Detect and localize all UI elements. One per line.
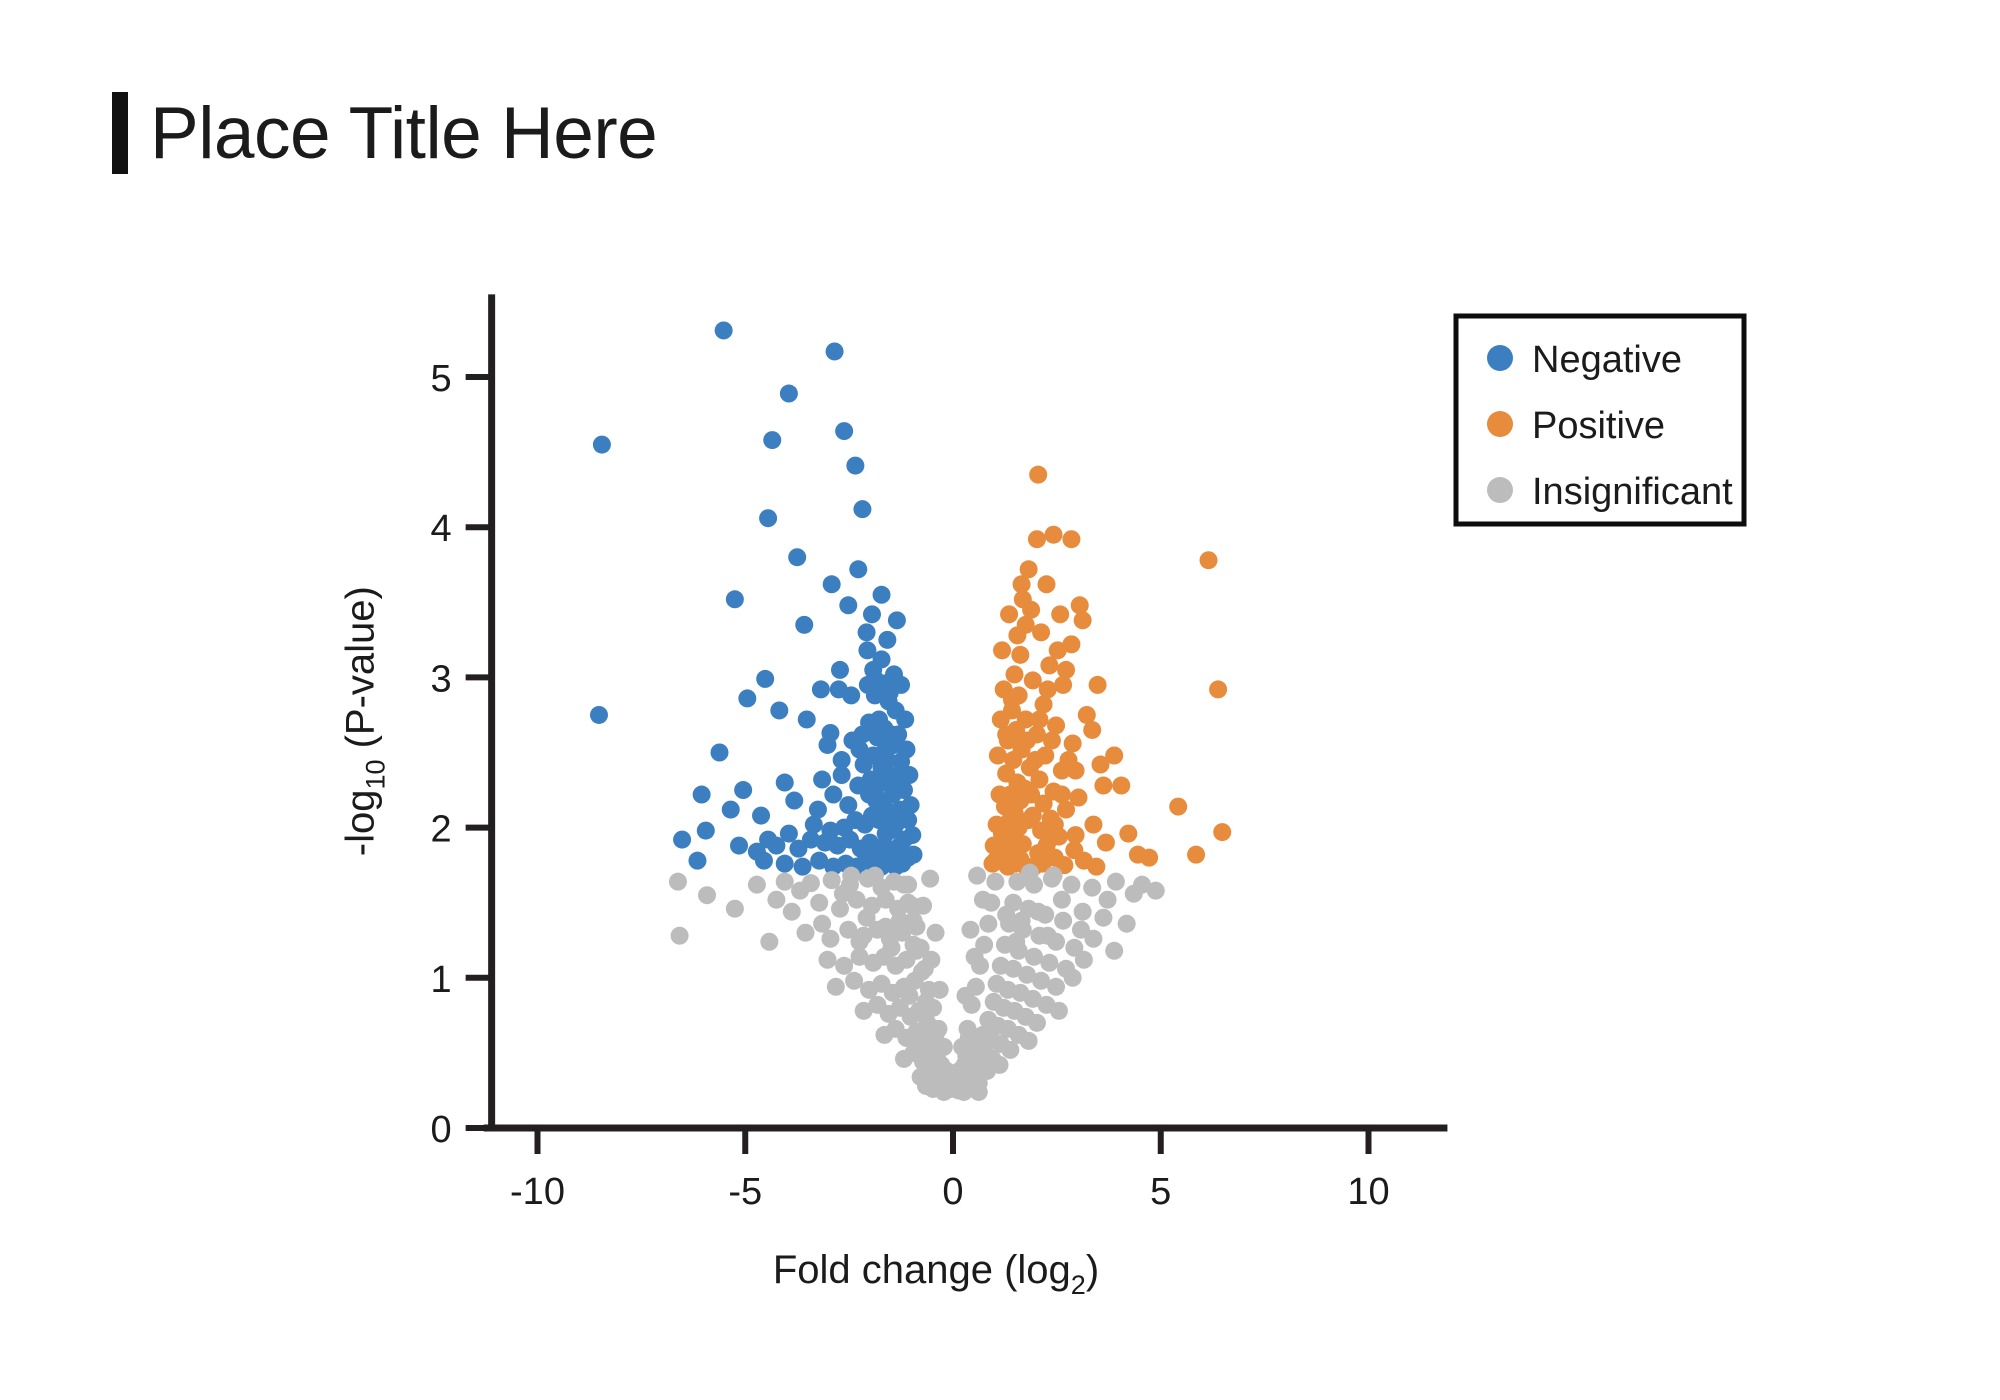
- data-point: [813, 915, 831, 933]
- chart-legend[interactable]: NegativePositiveInsignificant: [1456, 316, 1744, 524]
- data-point: [1119, 825, 1137, 843]
- data-point: [776, 855, 794, 873]
- data-point: [1067, 826, 1085, 844]
- data-point: [851, 933, 869, 951]
- data-point: [1097, 834, 1115, 852]
- series-negative: [590, 321, 923, 875]
- data-point: [974, 891, 992, 909]
- data-point: [1053, 891, 1071, 909]
- data-point: [991, 786, 1009, 804]
- data-point: [1040, 831, 1058, 849]
- data-point: [893, 766, 911, 784]
- data-point: [1047, 978, 1065, 996]
- data-point: [1213, 823, 1231, 841]
- data-point: [1064, 734, 1082, 752]
- y-tick-label: 0: [430, 1109, 451, 1151]
- data-point: [780, 385, 798, 403]
- data-point: [819, 736, 837, 754]
- data-point: [669, 873, 687, 891]
- data-point: [1029, 903, 1047, 921]
- data-point: [730, 837, 748, 855]
- data-point: [989, 747, 1007, 765]
- x-tick-label: 0: [942, 1171, 963, 1213]
- data-point: [1020, 1032, 1038, 1050]
- data-point: [1043, 731, 1061, 749]
- data-point: [842, 867, 860, 885]
- data-point: [748, 876, 766, 894]
- data-point: [1065, 939, 1083, 957]
- data-points-layer: [590, 321, 1231, 1101]
- data-point: [1074, 611, 1092, 629]
- data-point: [755, 852, 773, 870]
- data-point: [914, 897, 932, 915]
- data-point: [866, 867, 884, 885]
- data-point: [1003, 691, 1021, 709]
- data-point: [957, 1047, 975, 1065]
- data-point: [1209, 680, 1227, 698]
- data-point: [1008, 626, 1026, 644]
- data-point: [673, 831, 691, 849]
- data-point: [996, 834, 1014, 852]
- y-tick-label: 1: [430, 959, 451, 1001]
- data-point: [1094, 777, 1112, 795]
- data-point: [988, 816, 1006, 834]
- data-point: [693, 786, 711, 804]
- data-point: [734, 781, 752, 799]
- data-point: [853, 725, 871, 743]
- data-point: [1140, 849, 1158, 867]
- data-point: [1089, 676, 1107, 694]
- data-point: [759, 509, 777, 527]
- legend-swatch-icon: [1487, 345, 1513, 371]
- data-point: [839, 596, 857, 614]
- data-point: [1020, 811, 1038, 829]
- data-point: [946, 1077, 964, 1095]
- data-point: [776, 873, 794, 891]
- data-point: [858, 909, 876, 927]
- data-point: [1037, 575, 1055, 593]
- y-axis-title: -log10 (P-value): [339, 586, 391, 856]
- series-positive: [983, 466, 1231, 876]
- data-point: [1099, 891, 1117, 909]
- data-point: [776, 774, 794, 792]
- data-point: [931, 981, 949, 999]
- data-point: [917, 1077, 935, 1095]
- data-point: [831, 900, 849, 918]
- data-point: [698, 886, 716, 904]
- data-point: [845, 972, 863, 990]
- data-point: [902, 796, 920, 814]
- data-point: [1147, 882, 1165, 900]
- data-point: [1062, 876, 1080, 894]
- data-point: [1003, 801, 1021, 819]
- data-point: [877, 918, 895, 936]
- data-point: [871, 792, 889, 810]
- data-point: [1072, 921, 1090, 939]
- data-point: [1045, 526, 1063, 544]
- x-tick-label: -10: [510, 1171, 565, 1213]
- data-point: [812, 680, 830, 698]
- data-point: [763, 431, 781, 449]
- data-point: [883, 939, 901, 957]
- x-tick-label: 10: [1347, 1171, 1389, 1213]
- data-point: [1087, 858, 1105, 876]
- data-point: [846, 457, 864, 475]
- data-point: [956, 987, 974, 1005]
- series-insignificant: [669, 864, 1165, 1101]
- data-point: [899, 876, 917, 894]
- data-point: [853, 500, 871, 518]
- x-tick-label: -5: [728, 1171, 762, 1213]
- data-point: [1011, 646, 1029, 664]
- data-point: [593, 436, 611, 454]
- data-point: [970, 1083, 988, 1101]
- data-point: [922, 951, 940, 969]
- data-point: [842, 686, 860, 704]
- data-point: [1032, 623, 1050, 641]
- data-point: [1045, 867, 1063, 885]
- data-point: [966, 948, 984, 966]
- data-point: [1029, 466, 1047, 484]
- data-point: [823, 575, 841, 593]
- legend-swatch-icon: [1487, 411, 1513, 437]
- data-point: [1000, 605, 1018, 623]
- data-point: [819, 951, 837, 969]
- data-point: [888, 611, 906, 629]
- data-point: [805, 816, 823, 834]
- data-point: [722, 801, 740, 819]
- data-point: [1022, 601, 1040, 619]
- data-point: [1051, 605, 1069, 623]
- data-point: [1169, 798, 1187, 816]
- data-point: [979, 915, 997, 933]
- data-point: [986, 873, 1004, 891]
- data-point: [1025, 948, 1043, 966]
- data-point: [824, 786, 842, 804]
- legend-swatch-icon: [1487, 477, 1513, 503]
- y-tick-label: 2: [430, 809, 451, 851]
- data-point: [927, 924, 945, 942]
- data-point: [1049, 641, 1067, 659]
- data-point: [927, 1026, 945, 1044]
- y-tick-label: 5: [430, 358, 451, 400]
- data-point: [1013, 575, 1031, 593]
- data-point: [1200, 551, 1218, 569]
- data-point: [770, 701, 788, 719]
- data-point: [760, 933, 778, 951]
- data-point: [715, 321, 733, 339]
- data-point: [688, 852, 706, 870]
- data-point: [785, 792, 803, 810]
- data-point: [924, 999, 942, 1017]
- data-point: [1022, 786, 1040, 804]
- data-point: [1057, 960, 1075, 978]
- data-point: [1050, 1002, 1068, 1020]
- data-point: [1062, 530, 1080, 548]
- legend-label: Negative: [1532, 339, 1682, 381]
- data-point: [788, 548, 806, 566]
- data-point: [1026, 751, 1044, 769]
- data-point: [767, 837, 785, 855]
- data-point: [1118, 915, 1136, 933]
- data-point: [991, 1056, 1009, 1074]
- data-point: [907, 918, 925, 936]
- x-tick-label: 5: [1150, 1171, 1171, 1213]
- data-point: [873, 586, 891, 604]
- data-point: [896, 710, 914, 728]
- data-point: [858, 623, 876, 641]
- data-point: [849, 560, 867, 578]
- data-point: [960, 1029, 978, 1047]
- data-point: [671, 927, 689, 945]
- data-point: [798, 710, 816, 728]
- data-point: [1107, 873, 1125, 891]
- data-point: [1112, 777, 1130, 795]
- data-point: [1039, 927, 1057, 945]
- data-point: [1007, 933, 1025, 951]
- data-point: [1028, 530, 1046, 548]
- data-point: [867, 671, 885, 689]
- data-point: [968, 867, 986, 885]
- legend-label: Insignificant: [1532, 471, 1733, 513]
- data-point: [1039, 680, 1057, 698]
- data-point: [590, 706, 608, 724]
- data-point: [851, 741, 869, 759]
- data-point: [697, 822, 715, 840]
- data-point: [834, 885, 852, 903]
- data-point: [810, 894, 828, 912]
- data-point: [1008, 731, 1026, 749]
- data-point: [738, 689, 756, 707]
- data-point: [794, 858, 812, 876]
- data-point: [791, 882, 809, 900]
- svg-text:-log10 (P-value): -log10 (P-value): [339, 586, 391, 856]
- data-point: [797, 924, 815, 942]
- data-point: [833, 751, 851, 769]
- data-point: [1054, 912, 1072, 930]
- data-point: [1125, 885, 1143, 903]
- data-point: [1028, 1014, 1046, 1032]
- y-tick-label: 3: [430, 658, 451, 700]
- data-point: [783, 903, 801, 921]
- data-point: [726, 590, 744, 608]
- y-tick-label: 4: [430, 508, 451, 550]
- data-point: [1057, 661, 1075, 679]
- data-point: [710, 744, 728, 762]
- data-point: [1040, 954, 1058, 972]
- data-point: [997, 906, 1015, 924]
- data-point: [1054, 676, 1072, 694]
- volcano-plot-chart: -10-50510012345Fold change (log2)-log10 …: [0, 0, 2000, 1400]
- data-point: [810, 852, 828, 870]
- data-point: [1187, 846, 1205, 864]
- data-point: [909, 1035, 927, 1053]
- data-point: [891, 837, 909, 855]
- data-point: [1105, 747, 1123, 765]
- data-point: [900, 987, 918, 1005]
- data-point: [835, 957, 853, 975]
- data-point: [1013, 912, 1031, 930]
- plot-svg: -10-50510012345Fold change (log2)-log10 …: [0, 0, 2000, 1400]
- data-point: [835, 422, 853, 440]
- data-point: [1021, 864, 1039, 882]
- data-point: [863, 605, 881, 623]
- data-point: [961, 921, 979, 939]
- data-point: [827, 978, 845, 996]
- data-point: [831, 661, 849, 679]
- data-point: [1024, 671, 1042, 689]
- data-point: [1074, 903, 1092, 921]
- data-point: [756, 670, 774, 688]
- data-point: [878, 631, 896, 649]
- data-point: [726, 900, 744, 918]
- x-axis-title: Fold change (log2): [773, 1248, 1099, 1300]
- data-point: [993, 641, 1011, 659]
- data-point: [983, 855, 1001, 873]
- data-point: [1053, 786, 1071, 804]
- data-point: [1071, 596, 1089, 614]
- data-point: [826, 342, 844, 360]
- data-point: [1067, 762, 1085, 780]
- data-point: [1105, 942, 1123, 960]
- data-point: [1094, 909, 1112, 927]
- data-point: [892, 676, 910, 694]
- data-point: [1005, 665, 1023, 683]
- data-point: [877, 825, 895, 843]
- data-point: [795, 616, 813, 634]
- data-point: [752, 807, 770, 825]
- data-point: [813, 771, 831, 789]
- data-point: [767, 891, 785, 909]
- data-point: [921, 870, 939, 888]
- data-point: [1030, 710, 1048, 728]
- data-point: [1083, 879, 1101, 897]
- data-point: [1083, 721, 1101, 739]
- data-point: [1084, 816, 1102, 834]
- legend-label: Positive: [1532, 405, 1665, 447]
- slide-canvas: Place Title Here -10-50510012345Fold cha…: [0, 0, 2000, 1400]
